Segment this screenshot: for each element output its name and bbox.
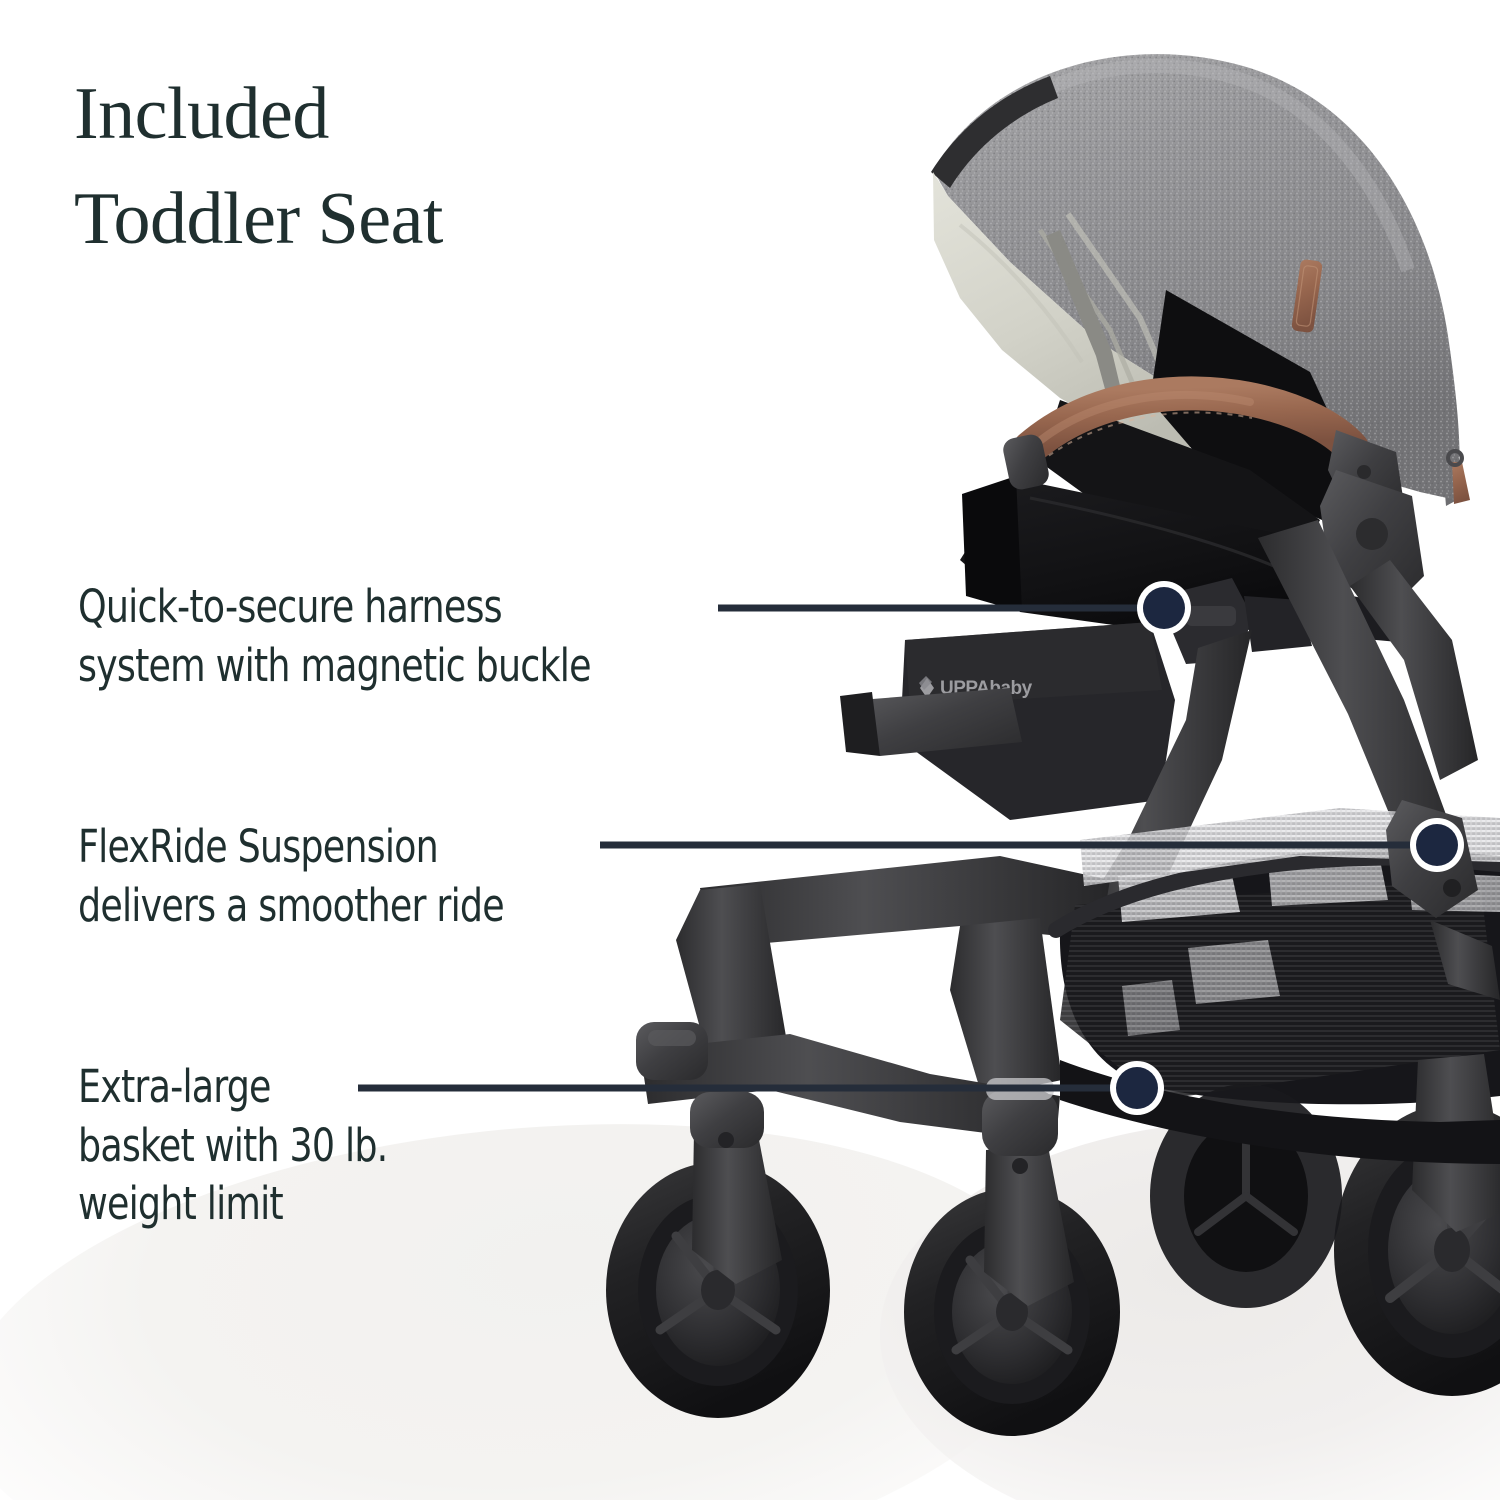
callout-suspension-label: FlexRide Suspension delivers a smoother … [78, 818, 888, 935]
callout-dot-suspension [1416, 824, 1458, 866]
bumper-mount-left [1001, 432, 1051, 491]
harness-buckle-housing [1170, 578, 1252, 664]
callout-dot-harness [1143, 587, 1185, 629]
bumper-mount-button [1357, 465, 1371, 479]
callout-dot-ring-harness [1137, 581, 1191, 635]
frame-hinge-upper [1320, 470, 1424, 610]
canopy-lining-seam-3 [960, 225, 1082, 362]
harness-buckle-tongue [1186, 606, 1236, 626]
seat-back-upper [1150, 290, 1360, 520]
bumper-bar-stitch [1040, 412, 1252, 462]
seat-side-panel [900, 622, 1175, 820]
basket-rim [1056, 858, 1500, 930]
wheel-rear-far [1150, 1084, 1342, 1308]
ground-shadow-right [880, 1120, 1500, 1500]
canopy-lining [933, 172, 1250, 448]
basket-body [1060, 862, 1500, 1105]
page-title: Included Toddler Seat [74, 62, 774, 272]
frame-seat-arm-left [860, 688, 1022, 756]
harness-strap [1306, 586, 1398, 642]
canopy-front-binding [931, 76, 1058, 188]
callout-dot-ring-suspension [1410, 818, 1464, 872]
frame-mid-leg [950, 918, 1062, 1096]
canopy-heather-texture [933, 54, 1460, 500]
basket-mesh-windows [1118, 860, 1500, 1036]
canopy-lining-seam-2 [1068, 214, 1165, 376]
suspension-bolt [1443, 879, 1461, 897]
svg-text:UPPAbaby: UPPAbaby [940, 678, 1033, 699]
seat-left-edge [962, 476, 1022, 612]
canopy-highlight [960, 66, 1408, 270]
wheel-rear [1334, 1054, 1500, 1396]
bumper-bar [1030, 393, 1352, 448]
canopy-back-edge [1240, 120, 1460, 506]
bumper-bar-group [1001, 393, 1404, 520]
basket-mesh-texture [1040, 850, 1500, 1130]
canopy-group [931, 54, 1470, 506]
callout-harness-label: Quick-to-secure harness system with magn… [78, 578, 888, 695]
brake-pedal-texture [648, 1030, 696, 1046]
frame-tube-rear-diagonal [1258, 520, 1470, 898]
frame-tube-upper-right [1350, 560, 1478, 780]
canopy-brand-tag [1291, 259, 1323, 333]
basket-upper-mesh-band [1080, 808, 1500, 886]
canopy-zip-pull [1448, 451, 1470, 504]
frame-seat-arm-cap [840, 692, 880, 756]
seat-seam [1030, 498, 1300, 578]
suspension-knuckle-group [1386, 800, 1500, 1000]
callout-dot-basket [1116, 1067, 1158, 1109]
frame-group [636, 470, 1478, 1142]
seat-base-group [960, 476, 1336, 640]
frame-hinge-pivot [1356, 518, 1388, 550]
seat-side-panel-top [905, 622, 1162, 706]
suspension-lower-link [1430, 920, 1500, 1000]
suspension-knuckle [1386, 800, 1478, 918]
basket-group [1040, 808, 1500, 1130]
harness-strap-pad [1244, 596, 1312, 652]
canopy-shell [933, 54, 1460, 500]
callout-basket-label: Extra-large basket with 30 lb. weight li… [78, 1058, 888, 1234]
infographic-canvas: UPPAbaby [0, 0, 1500, 1500]
seat-top-cushion [960, 478, 1336, 640]
canopy-rib-strut [1046, 230, 1122, 400]
callout-dot-ring-basket [1110, 1061, 1164, 1115]
seat-side-panel-group: UPPAbaby [900, 622, 1175, 820]
seat-back-group [1040, 290, 1360, 560]
uppababy-logo: UPPAbaby [919, 676, 1033, 699]
bumper-mount-right [1328, 430, 1404, 520]
bumper-bar-highlight [1036, 395, 1250, 444]
harness-buckle-group [1170, 578, 1398, 664]
chassis-lower-sweep [1060, 1060, 1500, 1164]
wheel-front-right [904, 1078, 1120, 1436]
frame-tube-front-diagonal [1072, 630, 1252, 960]
seat-back-lower [1040, 400, 1320, 560]
canopy-lining-seam-1 [1040, 230, 1132, 382]
